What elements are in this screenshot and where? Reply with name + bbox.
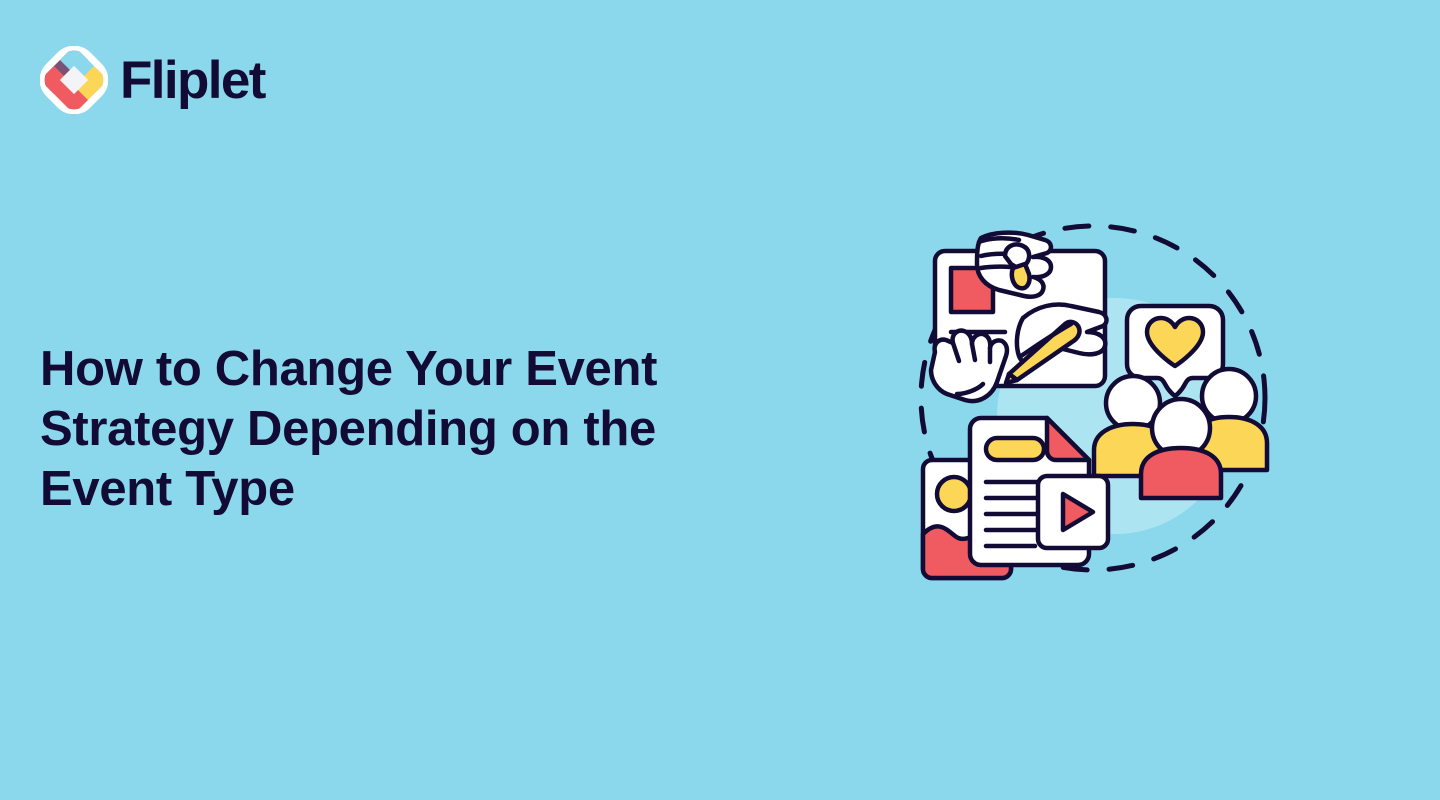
video-play-card-icon	[1038, 476, 1108, 548]
banner-canvas: Fliplet How to Change Your Event Strateg…	[0, 0, 1440, 800]
pointing-hand-icon	[931, 331, 1007, 401]
hand-holding-marker-icon	[977, 233, 1051, 297]
page-title: How to Change Your Event Strategy Depend…	[40, 339, 740, 519]
brand-name-text: Fliplet	[120, 54, 265, 107]
brand-logo[interactable]: Fliplet	[40, 46, 265, 114]
event-strategy-illustration	[893, 198, 1293, 598]
fliplet-diamond-logo-icon	[40, 46, 108, 114]
